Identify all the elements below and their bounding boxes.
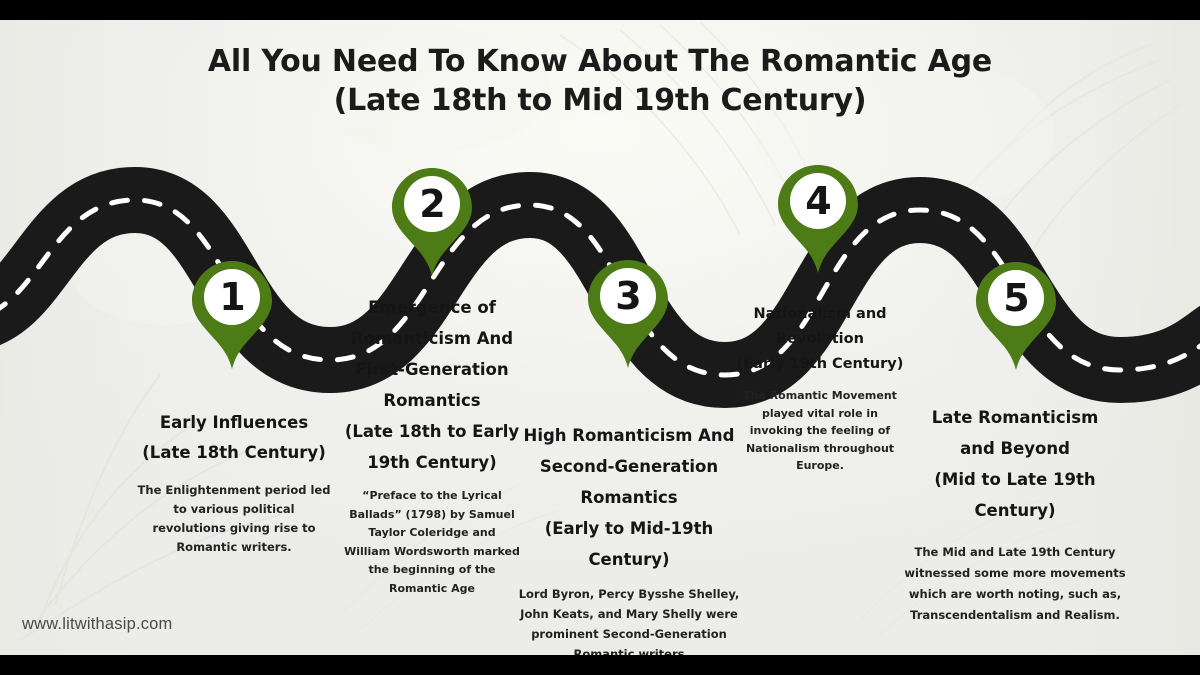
milestone-1-title-line: (Late 18th Century)	[136, 438, 332, 468]
milestone-1-body: The Enlightenment period led to various …	[136, 481, 332, 557]
milestone-5-title-line: and Beyond	[884, 433, 1146, 464]
page-title-line-2: (Late 18th to Mid 19th Century)	[0, 81, 1200, 120]
map-pin-1[interactable]: 1	[190, 259, 274, 371]
milestone-2-title-line: (Late 18th to Early	[344, 416, 520, 447]
page-title: All You Need To Know About The Romantic …	[0, 42, 1200, 120]
map-pin-1-number: 1	[190, 263, 274, 331]
milestone-2-title-line: Romantics	[344, 385, 520, 416]
infographic-canvas: All You Need To Know About The Romantic …	[0, 20, 1200, 655]
milestone-2: Emergence of Romanticism And First-Gener…	[344, 292, 520, 598]
milestone-4-title-line: (Early 19th Century)	[736, 352, 904, 377]
milestone-5: Late Romanticism and Beyond (Mid to Late…	[884, 402, 1146, 626]
milestone-1-title-line: Early Influences	[136, 408, 332, 438]
milestone-4: Nationalism and Revolution (Early 19th C…	[736, 302, 904, 475]
milestone-5-title-line: (Mid to Late 19th	[884, 464, 1146, 495]
map-pin-3-number: 3	[586, 262, 670, 330]
milestone-3-body: Lord Byron, Percy Bysshe Shelley, John K…	[514, 584, 744, 655]
milestone-5-title-line: Late Romanticism	[884, 402, 1146, 433]
milestone-5-title: Late Romanticism and Beyond (Mid to Late…	[884, 402, 1146, 526]
milestone-4-title-line: Nationalism and	[736, 302, 904, 327]
letterbox-bar-bottom	[0, 655, 1200, 675]
milestone-2-title: Emergence of Romanticism And First-Gener…	[344, 292, 520, 478]
map-pin-4-number: 4	[776, 167, 860, 235]
map-pin-5-number: 5	[974, 264, 1058, 332]
milestone-3-title-line: Century)	[514, 544, 744, 575]
milestone-5-body: The Mid and Late 19th Century witnessed …	[884, 542, 1146, 626]
milestone-4-title: Nationalism and Revolution (Early 19th C…	[736, 302, 904, 377]
milestone-2-title-line: Emergence of	[344, 292, 520, 323]
milestone-5-title-line: Century)	[884, 495, 1146, 526]
milestone-3-title-line: Romantics	[514, 482, 744, 513]
letterbox-bar-top	[0, 0, 1200, 20]
milestone-1-title: Early Influences (Late 18th Century)	[136, 408, 332, 468]
infographic-screen: All You Need To Know About The Romantic …	[0, 0, 1200, 675]
map-pin-4[interactable]: 4	[776, 163, 860, 275]
milestone-2-title-line: First-Generation	[344, 354, 520, 385]
milestone-3-title-line: High Romanticism And	[514, 420, 744, 451]
map-pin-2-number: 2	[390, 170, 474, 238]
map-pin-2[interactable]: 2	[390, 166, 474, 278]
page-title-line-1: All You Need To Know About The Romantic …	[0, 42, 1200, 81]
milestone-3-title: High Romanticism And Second-Generation R…	[514, 420, 744, 575]
map-pin-3[interactable]: 3	[586, 258, 670, 370]
milestone-2-body: “Preface to the Lyrical Ballads” (1798) …	[344, 487, 520, 598]
site-url[interactable]: www.litwithasip.com	[22, 615, 173, 634]
milestone-3-title-line: (Early to Mid-19th	[514, 513, 744, 544]
milestone-3: High Romanticism And Second-Generation R…	[514, 420, 744, 655]
map-pin-5[interactable]: 5	[974, 260, 1058, 372]
milestone-2-title-line: Romanticism And	[344, 323, 520, 354]
milestone-2-title-line: 19th Century)	[344, 447, 520, 478]
milestone-4-title-line: Revolution	[736, 327, 904, 352]
milestone-3-title-line: Second-Generation	[514, 451, 744, 482]
milestone-1: Early Influences (Late 18th Century) The…	[136, 408, 332, 557]
milestone-4-body: The Romantic Movement played vital role …	[736, 387, 904, 475]
